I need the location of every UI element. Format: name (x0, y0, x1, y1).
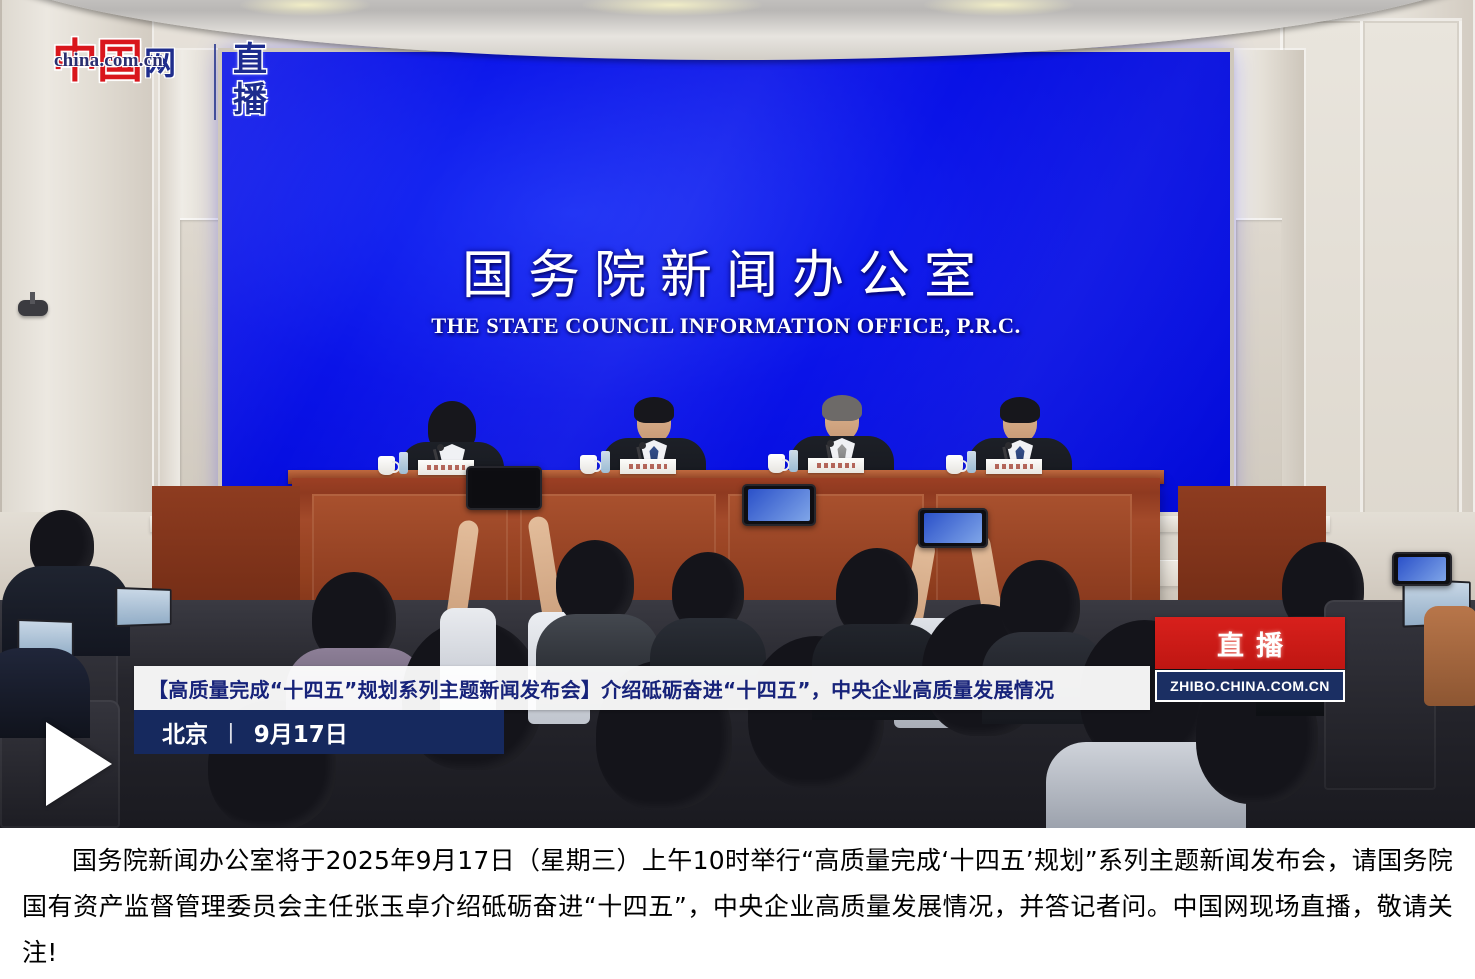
led-backdrop-screen: 国务院新闻办公室 THE STATE COUNCIL INFORMATION O… (222, 52, 1230, 512)
water-bottle-3 (789, 450, 798, 472)
lower-third-headline-text: 【高质量完成“十四五”规划系列主题新闻发布会】介绍砥砺奋进“十四五”，中央企业高… (134, 674, 1054, 703)
lower-third-location-bar: 北京 | 9月17日 (134, 710, 504, 754)
live-badge: 直播 (1155, 617, 1345, 669)
article-caption: 国务院新闻办公室将于2025年9月17日（星期三）上午10时举行“高质量完成‘十… (0, 828, 1475, 979)
ceiling-light-glow-center (582, 0, 762, 16)
ceiling-light-glow-left (240, 0, 370, 16)
logo-live-label: 直播 (228, 40, 272, 120)
nameplate-2 (620, 459, 676, 474)
audience-phone-3 (918, 508, 988, 548)
audience-phone-1-screen (472, 471, 536, 505)
video-player[interactable]: 国务院新闻办公室 THE STATE COUNCIL INFORMATION O… (0, 0, 1475, 828)
caption-text: 国务院新闻办公室将于2025年9月17日（星期三）上午10时举行“高质量完成‘十… (22, 838, 1453, 976)
logo-domain-text: china.com.cn (54, 50, 163, 72)
water-bottle-2 (601, 451, 610, 473)
microphone-4-head (1005, 442, 1012, 449)
wall-inset-panel-right (1360, 18, 1462, 584)
microphone-3-head (827, 440, 834, 447)
audience-phone-2 (742, 484, 816, 526)
teacup-2 (580, 455, 597, 474)
lower-third-separator: | (228, 719, 234, 745)
panelist-2-hair (634, 397, 674, 423)
microphone-2-head (639, 442, 646, 449)
security-camera-mount (30, 292, 35, 304)
panelist-4-hair (1000, 397, 1040, 423)
lower-third-city: 北京 (134, 715, 208, 749)
teacup-3 (768, 454, 785, 473)
screen-title-chinese: 国务院新闻办公室 (222, 248, 1230, 305)
microphone-1-head (437, 444, 444, 451)
play-triangle-icon[interactable] (46, 722, 112, 806)
teacup-4 (946, 455, 963, 474)
ceiling-light-glow-right (924, 0, 1074, 16)
live-url-text: ZHIBO.CHINA.COM.CN (1170, 678, 1330, 694)
teacup-1 (378, 456, 395, 475)
lower-third-date: 9月17日 (254, 715, 348, 749)
audience-laptop-left-1 (115, 587, 171, 627)
live-url-bar: ZHIBO.CHINA.COM.CN (1155, 670, 1345, 702)
page-root: 国务院新闻办公室 THE STATE COUNCIL INFORMATION O… (0, 0, 1475, 979)
audience-phone-4-screen (1398, 557, 1446, 581)
screen-title-english: THE STATE COUNCIL INFORMATION OFFICE, P.… (212, 313, 1240, 339)
nameplate-3 (808, 458, 864, 473)
audience-sleeve-right-1 (1424, 606, 1475, 706)
nameplate-4 (986, 459, 1042, 474)
audience-phone-2-screen (748, 489, 810, 521)
led-screen-text: 国务院新闻办公室 THE STATE COUNCIL INFORMATION O… (222, 248, 1230, 339)
logo-divider (214, 44, 216, 120)
lower-third-headline-bar: 【高质量完成“十四五”规划系列主题新闻发布会】介绍砥砺奋进“十四五”，中央企业高… (134, 666, 1150, 710)
water-bottle-4 (967, 451, 976, 473)
water-bottle-1 (399, 452, 408, 474)
audience-phone-4 (1392, 552, 1452, 586)
audience-phone-1 (466, 466, 542, 510)
panelist-3-hair (822, 395, 862, 421)
live-badge-label: 直播 (1205, 624, 1295, 663)
audience-phone-3-screen (924, 513, 982, 543)
